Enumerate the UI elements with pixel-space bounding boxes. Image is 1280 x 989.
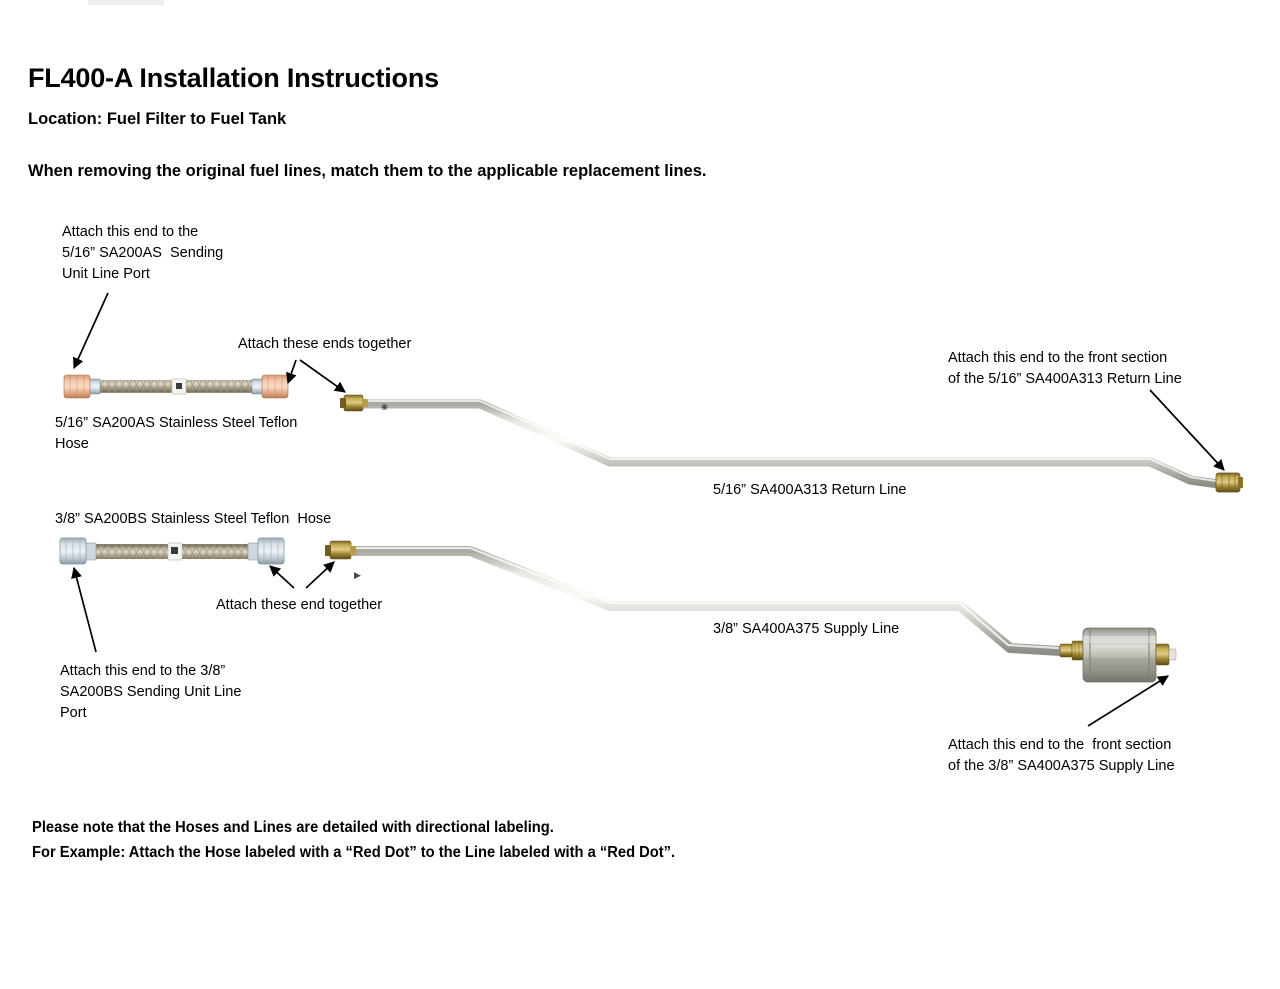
callout-upper-right: Attach this end to the front section of … <box>948 348 1182 390</box>
return-line-5-16: ◉ <box>340 395 1243 492</box>
callout-attach-ends-together-top: Attach these ends together <box>238 334 411 355</box>
callout-upper-left: Attach this end to the 5/16” SA200AS Sen… <box>62 222 223 285</box>
supply-line-3-8: ▶ <box>325 541 1060 651</box>
label-supply-line: 3/8” SA400A375 Supply Line <box>713 619 899 640</box>
arrow-upper-left <box>74 293 108 368</box>
callout-lower-left: Attach this end to the 3/8” SA200BS Send… <box>60 661 241 724</box>
arrow-attach-top-left <box>288 360 296 383</box>
arrow-lower-right <box>1088 676 1168 726</box>
arrow-attach-bottom-left <box>270 566 294 588</box>
top-edge-artifact <box>88 0 164 5</box>
return-line-direction-mark: ◉ <box>381 402 388 411</box>
return-line-right-fitting <box>1216 473 1243 492</box>
label-hose-5-16: 5/16” SA200AS Stainless Steel Teflon Hos… <box>55 413 297 455</box>
callout-attach-ends-together-bottom: Attach these end together <box>216 595 382 616</box>
arrow-attach-top-right <box>300 360 345 392</box>
supply-line-left-fitting <box>325 541 356 559</box>
callout-lower-right: Attach this end to the front section of … <box>948 735 1175 777</box>
lead-instruction: When removing the original fuel lines, m… <box>28 162 706 181</box>
footnote-line-1: Please note that the Hoses and Lines are… <box>32 819 554 836</box>
arrow-lower-left <box>74 568 96 652</box>
footnote-note: Please note that the Hoses and Lines are… <box>32 815 675 865</box>
label-hose-3-8: 3/8” SA200BS Stainless Steel Teflon Hose <box>55 509 331 530</box>
footnote-line-2: For Example: Attach the Hose labeled wit… <box>32 844 675 861</box>
arrow-attach-bottom-right <box>306 562 334 588</box>
location-subtitle: Location: Fuel Filter to Fuel Tank <box>28 110 286 129</box>
supply-line-direction-mark: ▶ <box>354 570 361 580</box>
return-line-left-fitting <box>340 395 368 411</box>
arrow-upper-right <box>1150 390 1224 470</box>
hose-5-16-assembly <box>64 375 288 398</box>
page-title: FL400-A Installation Instructions <box>28 63 439 94</box>
fuel-filter-canister <box>1060 628 1176 682</box>
hose-3-8-assembly <box>60 538 284 564</box>
label-return-line: 5/16” SA400A313 Return Line <box>713 480 906 501</box>
